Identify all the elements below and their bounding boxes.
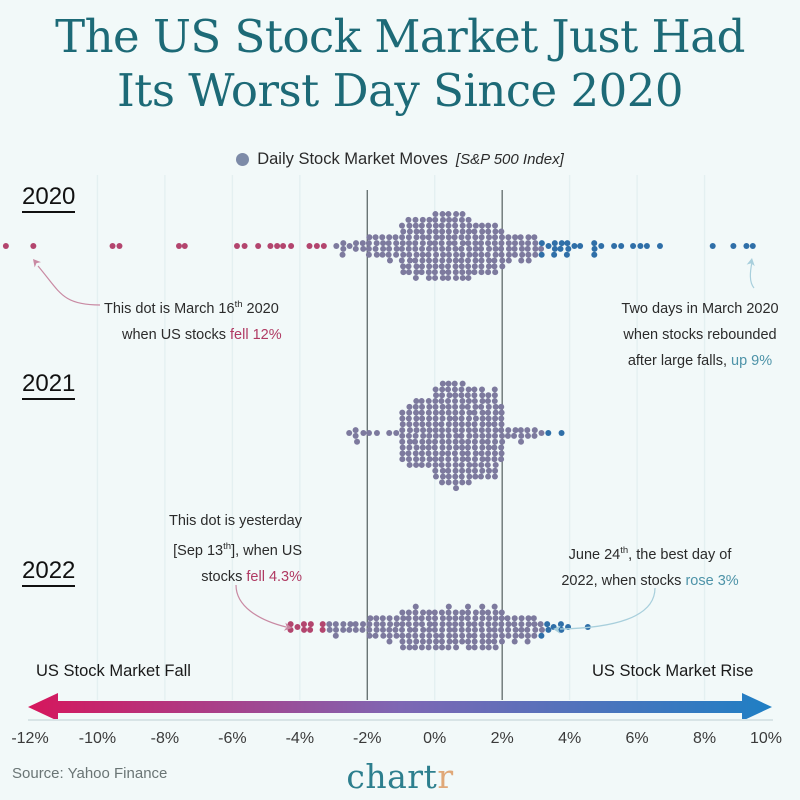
- year-label-2021: 2021: [22, 371, 75, 400]
- data-point: [505, 234, 511, 240]
- data-point: [399, 609, 405, 615]
- data-point: [505, 427, 511, 433]
- legend-label: Daily Stock Market Moves: [257, 150, 448, 169]
- data-point: [333, 627, 339, 633]
- annotation-rebound-line1: Two days in March 2020: [600, 296, 800, 322]
- annotation-text: ], when US: [231, 543, 302, 559]
- data-point: [473, 415, 479, 421]
- data-point: [439, 445, 445, 451]
- data-point: [532, 240, 538, 246]
- data-point: [466, 223, 472, 229]
- annotation-highlight: up 9%: [731, 353, 772, 369]
- data-point: [479, 421, 485, 427]
- data-point: [493, 644, 499, 650]
- data-point: [459, 462, 465, 468]
- data-point: [426, 275, 432, 281]
- data-point: [438, 421, 444, 427]
- data-point: [472, 421, 478, 427]
- data-point: [406, 240, 412, 246]
- data-point: [280, 243, 286, 249]
- data-point: [426, 445, 432, 451]
- data-point: [439, 410, 445, 416]
- data-point: [426, 258, 432, 264]
- data-point: [498, 404, 504, 410]
- data-point: [413, 275, 419, 281]
- data-point: [433, 474, 439, 480]
- annotation-rebound: Two days in March 2020 when stocks rebou…: [600, 296, 800, 374]
- data-point: [466, 474, 472, 480]
- data-point: [445, 644, 451, 650]
- data-point: [393, 240, 399, 246]
- data-point: [472, 462, 478, 468]
- data-point: [392, 627, 398, 633]
- data-point: [486, 421, 492, 427]
- data-point: [518, 627, 524, 633]
- data-point: [367, 633, 373, 639]
- data-point: [446, 439, 452, 445]
- data-point: [446, 410, 452, 416]
- data-point: [446, 604, 452, 610]
- data-point: [242, 243, 248, 249]
- data-point: [340, 621, 346, 627]
- data-point: [406, 421, 412, 427]
- data-point: [407, 627, 413, 633]
- annotation-rebound-line3: after large falls, up 9%: [600, 348, 800, 374]
- data-point: [452, 427, 458, 433]
- data-point: [499, 258, 505, 264]
- axis-label-rise: US Stock Market Rise: [592, 662, 753, 681]
- annotation-march-16-line1: This dot is March 16th 2020: [104, 292, 334, 322]
- data-point: [394, 621, 400, 627]
- data-point: [453, 439, 459, 445]
- data-point: [486, 404, 492, 410]
- data-point: [301, 627, 307, 633]
- data-point: [433, 462, 439, 468]
- data-point: [512, 240, 518, 246]
- data-point: [419, 644, 425, 650]
- data-point: [433, 404, 439, 410]
- title-line-1: The US Stock Market Just Had: [55, 10, 745, 63]
- data-point: [485, 462, 491, 468]
- data-point: [360, 621, 366, 627]
- data-point: [506, 258, 512, 264]
- data-point: [452, 398, 458, 404]
- data-point: [452, 404, 458, 410]
- title-line-2: Its Worst Day Since 2020: [0, 64, 800, 118]
- data-point: [459, 633, 465, 639]
- data-point: [459, 252, 465, 258]
- data-point: [353, 627, 359, 633]
- data-point: [439, 263, 445, 269]
- data-point: [353, 427, 359, 433]
- data-point: [485, 410, 491, 416]
- data-point: [466, 644, 472, 650]
- data-point: [359, 627, 365, 633]
- data-point: [432, 217, 438, 223]
- data-point: [346, 627, 352, 633]
- data-point: [465, 275, 471, 281]
- year-label-2020: 2020: [22, 184, 75, 213]
- data-point: [577, 243, 583, 249]
- data-point: [452, 386, 458, 392]
- data-point: [301, 621, 307, 627]
- data-point: [380, 615, 386, 621]
- data-point: [518, 621, 524, 627]
- data-point: [426, 427, 432, 433]
- data-point: [400, 445, 406, 451]
- data-point: [492, 456, 498, 462]
- data-point: [453, 479, 459, 485]
- data-point: [453, 433, 459, 439]
- data-point: [439, 234, 445, 240]
- data-point: [571, 243, 577, 249]
- data-point: [491, 639, 497, 645]
- data-point: [479, 223, 485, 229]
- data-point: [459, 627, 465, 633]
- data-point: [373, 615, 379, 621]
- data-point: [399, 621, 405, 627]
- data-point: [446, 258, 452, 264]
- data-point: [446, 479, 452, 485]
- data-point: [498, 415, 504, 421]
- annotation-arrowhead: [284, 623, 293, 632]
- data-point: [472, 263, 478, 269]
- data-point: [493, 609, 499, 615]
- data-point: [480, 644, 486, 650]
- data-point: [400, 263, 406, 269]
- data-point: [414, 427, 420, 433]
- data-point: [445, 462, 451, 468]
- data-point: [492, 604, 498, 610]
- data-point: [459, 404, 465, 410]
- data-point: [479, 615, 485, 621]
- data-point: [453, 269, 459, 275]
- data-point: [420, 609, 426, 615]
- data-point: [446, 228, 452, 234]
- data-point: [506, 252, 512, 258]
- year-label-2022: 2022: [22, 558, 75, 587]
- axis-tick: 4%: [558, 730, 581, 748]
- data-point: [446, 633, 452, 639]
- data-point: [419, 456, 425, 462]
- data-point: [380, 240, 386, 246]
- data-point: [347, 621, 353, 627]
- data-point: [498, 228, 504, 234]
- data-point: [440, 404, 446, 410]
- annotation-march-16-line2: when US stocks fell 12%: [122, 322, 334, 348]
- data-point: [426, 639, 432, 645]
- data-point: [373, 234, 379, 240]
- data-point: [413, 410, 419, 416]
- data-point: [459, 479, 465, 485]
- data-point: [406, 234, 412, 240]
- data-point: [366, 234, 372, 240]
- data-point: [400, 228, 406, 234]
- annotation-text: This dot is March 16: [104, 301, 235, 317]
- data-point: [453, 263, 459, 269]
- data-point: [445, 456, 451, 462]
- data-point: [432, 627, 438, 633]
- data-point: [479, 456, 485, 462]
- data-point: [406, 263, 412, 269]
- data-point: [452, 381, 458, 387]
- data-point: [453, 252, 459, 258]
- ordinal-suffix: th: [235, 299, 243, 310]
- legend-dot-icon: [236, 153, 249, 166]
- annotation-june-24-line2: 2022, when stocks rose 3%: [545, 568, 755, 594]
- data-point: [426, 462, 432, 468]
- data-point: [466, 633, 472, 639]
- data-point: [545, 430, 551, 436]
- annotation-text: after large falls,: [628, 353, 731, 369]
- data-point: [366, 621, 372, 627]
- infographic-root: The US Stock Market Just Had Its Worst D…: [0, 0, 800, 800]
- data-point: [458, 246, 464, 252]
- legend-sublabel: [S&P 500 Index]: [456, 151, 564, 168]
- data-point: [472, 615, 478, 621]
- data-point: [459, 269, 465, 275]
- data-point: [479, 228, 485, 234]
- data-point: [466, 427, 472, 433]
- data-point: [374, 627, 380, 633]
- data-point: [493, 252, 499, 258]
- data-point: [426, 263, 432, 269]
- data-point: [426, 404, 432, 410]
- chartr-logo-accent: r: [437, 757, 453, 796]
- data-point: [565, 624, 571, 630]
- data-point: [498, 240, 504, 246]
- data-point: [486, 415, 492, 421]
- data-point: [425, 252, 431, 258]
- data-point: [611, 243, 617, 249]
- data-point: [427, 240, 433, 246]
- data-point: [433, 410, 439, 416]
- data-point: [479, 609, 485, 615]
- data-point: [478, 240, 484, 246]
- data-point: [559, 430, 565, 436]
- data-point: [466, 228, 472, 234]
- data-point: [394, 615, 400, 621]
- data-point: [386, 240, 392, 246]
- data-point: [419, 615, 425, 621]
- data-point: [452, 392, 458, 398]
- data-point: [440, 275, 446, 281]
- annotation-arrowhead: [747, 257, 756, 266]
- data-point: [400, 615, 406, 621]
- data-point: [525, 246, 531, 252]
- data-point: [478, 474, 484, 480]
- data-point: [446, 392, 452, 398]
- data-point: [380, 627, 386, 633]
- data-point: [539, 627, 545, 633]
- data-point: [598, 243, 604, 249]
- data-point: [420, 427, 426, 433]
- data-point: [374, 430, 380, 436]
- annotation-text: [Sep 13: [173, 543, 223, 559]
- data-point: [532, 427, 538, 433]
- data-point: [432, 211, 438, 217]
- data-point: [426, 439, 432, 445]
- data-point: [406, 621, 412, 627]
- data-point: [539, 252, 545, 258]
- data-point: [505, 627, 511, 633]
- data-point: [472, 644, 478, 650]
- data-point: [426, 246, 432, 252]
- data-point: [512, 234, 518, 240]
- data-point: [399, 450, 405, 456]
- data-point: [472, 627, 478, 633]
- data-point: [288, 243, 294, 249]
- data-point: [407, 439, 413, 445]
- data-point: [486, 263, 492, 269]
- data-point: [340, 240, 346, 246]
- data-point: [413, 433, 419, 439]
- axis-tick: 10%: [750, 730, 782, 748]
- data-point: [386, 252, 392, 258]
- data-point: [412, 609, 418, 615]
- data-point: [413, 456, 419, 462]
- data-point: [440, 615, 446, 621]
- data-point: [491, 445, 497, 451]
- data-point: [445, 263, 451, 269]
- data-point: [412, 633, 418, 639]
- data-point: [459, 474, 465, 480]
- data-point: [506, 246, 512, 252]
- data-point: [460, 456, 466, 462]
- data-point: [360, 246, 366, 252]
- data-point: [452, 450, 458, 456]
- page-title: The US Stock Market Just Had Its Worst D…: [0, 10, 800, 118]
- data-point: [531, 621, 537, 627]
- data-point: [439, 609, 445, 615]
- data-point: [452, 639, 458, 645]
- data-point: [499, 633, 505, 639]
- data-point: [452, 474, 458, 480]
- data-point: [559, 240, 565, 246]
- data-point: [480, 639, 486, 645]
- data-point: [479, 258, 485, 264]
- data-point: [432, 445, 438, 451]
- data-point: [498, 246, 504, 252]
- data-point: [353, 433, 359, 439]
- data-point: [380, 633, 386, 639]
- data-point: [485, 621, 491, 627]
- data-point: [473, 223, 479, 229]
- data-point: [486, 246, 492, 252]
- data-point: [413, 269, 419, 275]
- data-point: [353, 621, 359, 627]
- data-point: [366, 627, 372, 633]
- data-point: [446, 240, 452, 246]
- data-point: [512, 615, 518, 621]
- data-point: [585, 624, 591, 630]
- data-point: [446, 252, 452, 258]
- data-point: [413, 615, 419, 621]
- data-point: [453, 275, 459, 281]
- annotation-text: when US stocks: [122, 327, 230, 343]
- data-point: [552, 240, 558, 246]
- axis-tick: -8%: [151, 730, 179, 748]
- data-point: [480, 415, 486, 421]
- data-point: [473, 258, 479, 264]
- axis-tick: -10%: [79, 730, 116, 748]
- data-point: [407, 462, 413, 468]
- data-point: [518, 234, 524, 240]
- data-point: [440, 415, 446, 421]
- annotation-text: 2020: [243, 301, 279, 317]
- data-point: [447, 415, 453, 421]
- data-point: [406, 252, 412, 258]
- data-point: [472, 439, 478, 445]
- data-point: [499, 615, 505, 621]
- data-point: [426, 633, 432, 639]
- axis-tick: -2%: [353, 730, 381, 748]
- data-point: [432, 269, 438, 275]
- data-point: [486, 445, 492, 451]
- data-point: [433, 252, 439, 258]
- data-point: [471, 410, 477, 416]
- data-point: [399, 456, 405, 462]
- data-point: [412, 217, 418, 223]
- data-point: [406, 415, 412, 421]
- data-point: [466, 433, 472, 439]
- data-point: [407, 427, 413, 433]
- data-point: [499, 433, 505, 439]
- data-point: [452, 621, 458, 627]
- data-point: [374, 621, 380, 627]
- data-point: [380, 621, 386, 627]
- data-point: [453, 462, 459, 468]
- data-point: [524, 427, 530, 433]
- data-point: [499, 234, 505, 240]
- data-point: [419, 410, 425, 416]
- data-point: [511, 621, 517, 627]
- axis-baseline: [28, 719, 773, 721]
- data-point: [473, 450, 479, 456]
- data-point: [452, 410, 458, 416]
- data-point: [551, 252, 557, 258]
- data-point: [314, 243, 320, 249]
- data-point: [478, 263, 484, 269]
- data-point: [267, 243, 273, 249]
- data-point: [387, 258, 393, 264]
- data-point: [414, 252, 420, 258]
- data-point: [506, 240, 512, 246]
- data-point: [445, 468, 451, 474]
- data-point: [532, 627, 538, 633]
- data-point: [439, 479, 445, 485]
- data-point: [440, 252, 446, 258]
- data-point: [657, 243, 663, 249]
- data-point: [492, 415, 498, 421]
- data-point: [478, 621, 484, 627]
- data-point: [505, 615, 511, 621]
- annotation-arrowhead: [553, 625, 561, 634]
- data-point: [446, 421, 452, 427]
- data-point: [446, 217, 452, 223]
- data-point: [433, 644, 439, 650]
- data-point: [485, 450, 491, 456]
- data-point: [532, 246, 538, 252]
- data-point: [446, 234, 452, 240]
- data-point: [498, 427, 504, 433]
- data-point: [432, 615, 438, 621]
- data-point: [419, 439, 425, 445]
- data-point: [558, 621, 564, 627]
- data-point: [367, 615, 373, 621]
- data-point: [446, 223, 452, 229]
- data-point: [393, 430, 399, 436]
